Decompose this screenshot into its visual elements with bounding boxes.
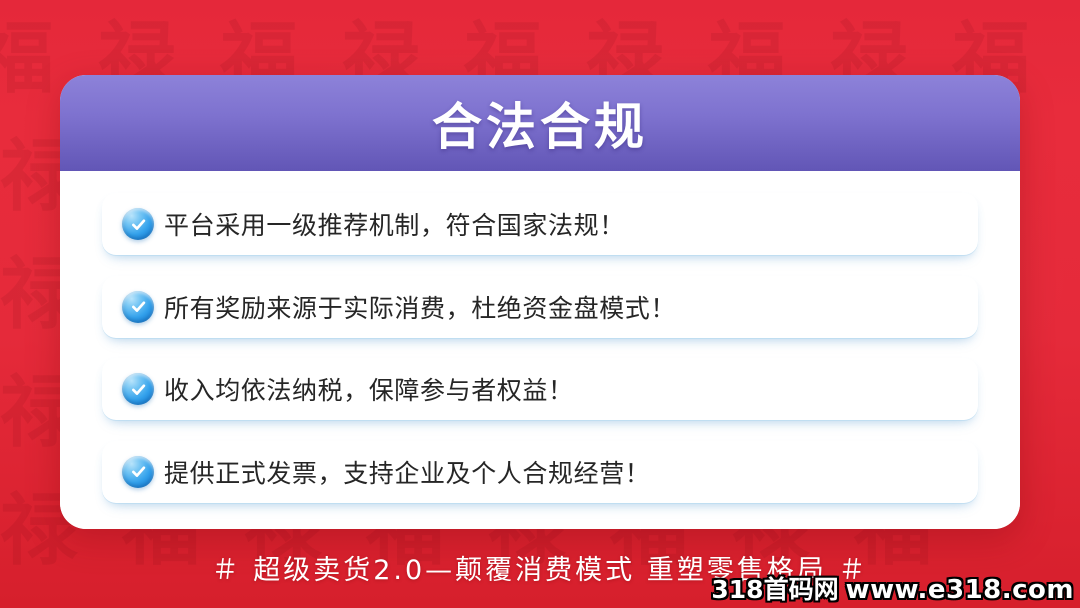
watermark-brand: 318首码网 [711, 570, 838, 606]
check-circle-icon [122, 208, 154, 240]
poster-canvas: 福禄福禄福禄福禄福禄福禄福禄福禄福禄福禄福禄福禄福禄福禄福禄福禄福禄福禄福禄福禄… [0, 0, 1080, 608]
list-item[interactable]: 平台采用一级推荐机制，符合国家法规！ [102, 193, 978, 255]
list-item-label: 平台采用一级推荐机制，符合国家法规！ [164, 206, 625, 242]
list-item[interactable]: 提供正式发票，支持企业及个人合规经营！ [102, 441, 978, 503]
list-item[interactable]: 所有奖励来源于实际消费，杜绝资金盘模式！ [102, 276, 978, 338]
site-watermark: 318首码网 www.e318.com [711, 570, 1074, 606]
list-item[interactable]: 收入均依法纳税，保障参与者权益！ [102, 358, 978, 420]
page-title: 合法合规 [432, 87, 648, 159]
compliance-card: 合法合规 平台采用一级推荐机制，符合国家法规！ 所有奖励来源于实际消费，杜绝资金… [60, 75, 1020, 529]
list-item-label: 收入均依法纳税，保障参与者权益！ [164, 371, 574, 407]
watermark-site: www.e318.com [846, 575, 1074, 605]
check-circle-icon [122, 373, 154, 405]
feature-list: 平台采用一级推荐机制，符合国家法规！ 所有奖励来源于实际消费，杜绝资金盘模式！ … [60, 171, 1020, 529]
card-header: 合法合规 [60, 75, 1020, 171]
list-item-label: 所有奖励来源于实际消费，杜绝资金盘模式！ [164, 289, 676, 325]
list-item-label: 提供正式发票，支持企业及个人合规经营！ [164, 454, 650, 490]
check-circle-icon [122, 291, 154, 323]
check-circle-icon [122, 456, 154, 488]
